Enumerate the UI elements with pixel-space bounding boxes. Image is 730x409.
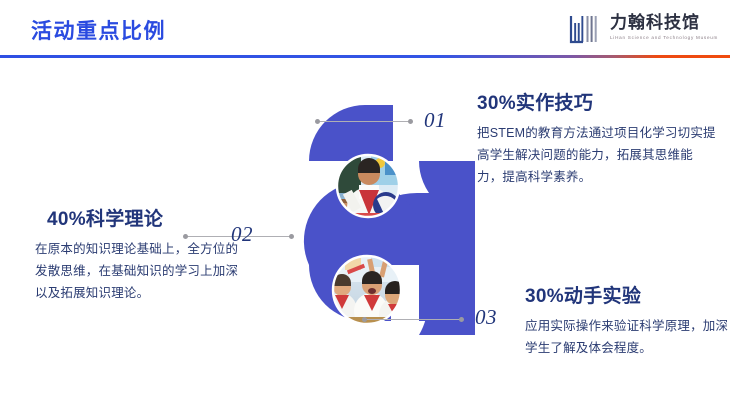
slide-header: 活动重点比例 力翰科技馆 LiHan Science and Technolog… [0,0,730,56]
connector-dot-03-inner [362,317,367,322]
content-block-03: 30%动手实验 应用实际操作来验证科学原理，加深学生了解及体会程度。 [525,281,730,359]
brand-logo: 力翰科技馆 LiHan Science and Technology Museu… [569,13,718,44]
content-block-01: 30%实作技巧 把STEM的教育方法通过项目化学习切实提高学生解决问题的能力，拓… [477,88,717,188]
connector-line-03 [365,319,462,320]
bars-bracket-logo-icon [569,14,603,44]
brand-logo-text: 力翰科技馆 LiHan Science and Technology Museu… [610,13,718,40]
page-title: 活动重点比例 [31,15,166,45]
connector-line-01 [318,121,411,122]
connector-dot-03-outer [459,317,464,322]
item-heading-01: 30%实作技巧 [477,88,717,115]
connector-dot-02-inner [289,234,294,239]
content-block-02: 40%科学理论 在原本的知识理论基础上，全方位的发散思维，在基础知识的学习上加深… [35,204,240,304]
slide-canvas: 活动重点比例 力翰科技馆 LiHan Science and Technolog… [0,0,730,409]
item-heading-03: 30%动手实验 [525,281,730,308]
item-body-03: 应用实际操作来验证科学原理，加深学生了解及体会程度。 [525,315,730,359]
item-body-02: 在原本的知识理论基础上，全方位的发散思维，在基础知识的学习上加深以及拓展知识理论… [35,238,240,304]
s-curve-segments-shape [285,95,475,345]
brand-name: 力翰科技馆 [610,13,718,32]
header-divider [0,55,730,58]
item-numeral-03: 03 [475,305,497,330]
item-body-01: 把STEM的教育方法通过项目化学习切实提高学生解决问题的能力，拓展其思维能力，提… [477,122,717,188]
item-numeral-01: 01 [424,108,446,133]
connector-dot-01-inner [315,119,320,124]
item-heading-02: 40%科学理论 [47,204,240,231]
connector-dot-01-outer [408,119,413,124]
brand-subtitle: LiHan Science and Technology Museum [610,35,718,40]
